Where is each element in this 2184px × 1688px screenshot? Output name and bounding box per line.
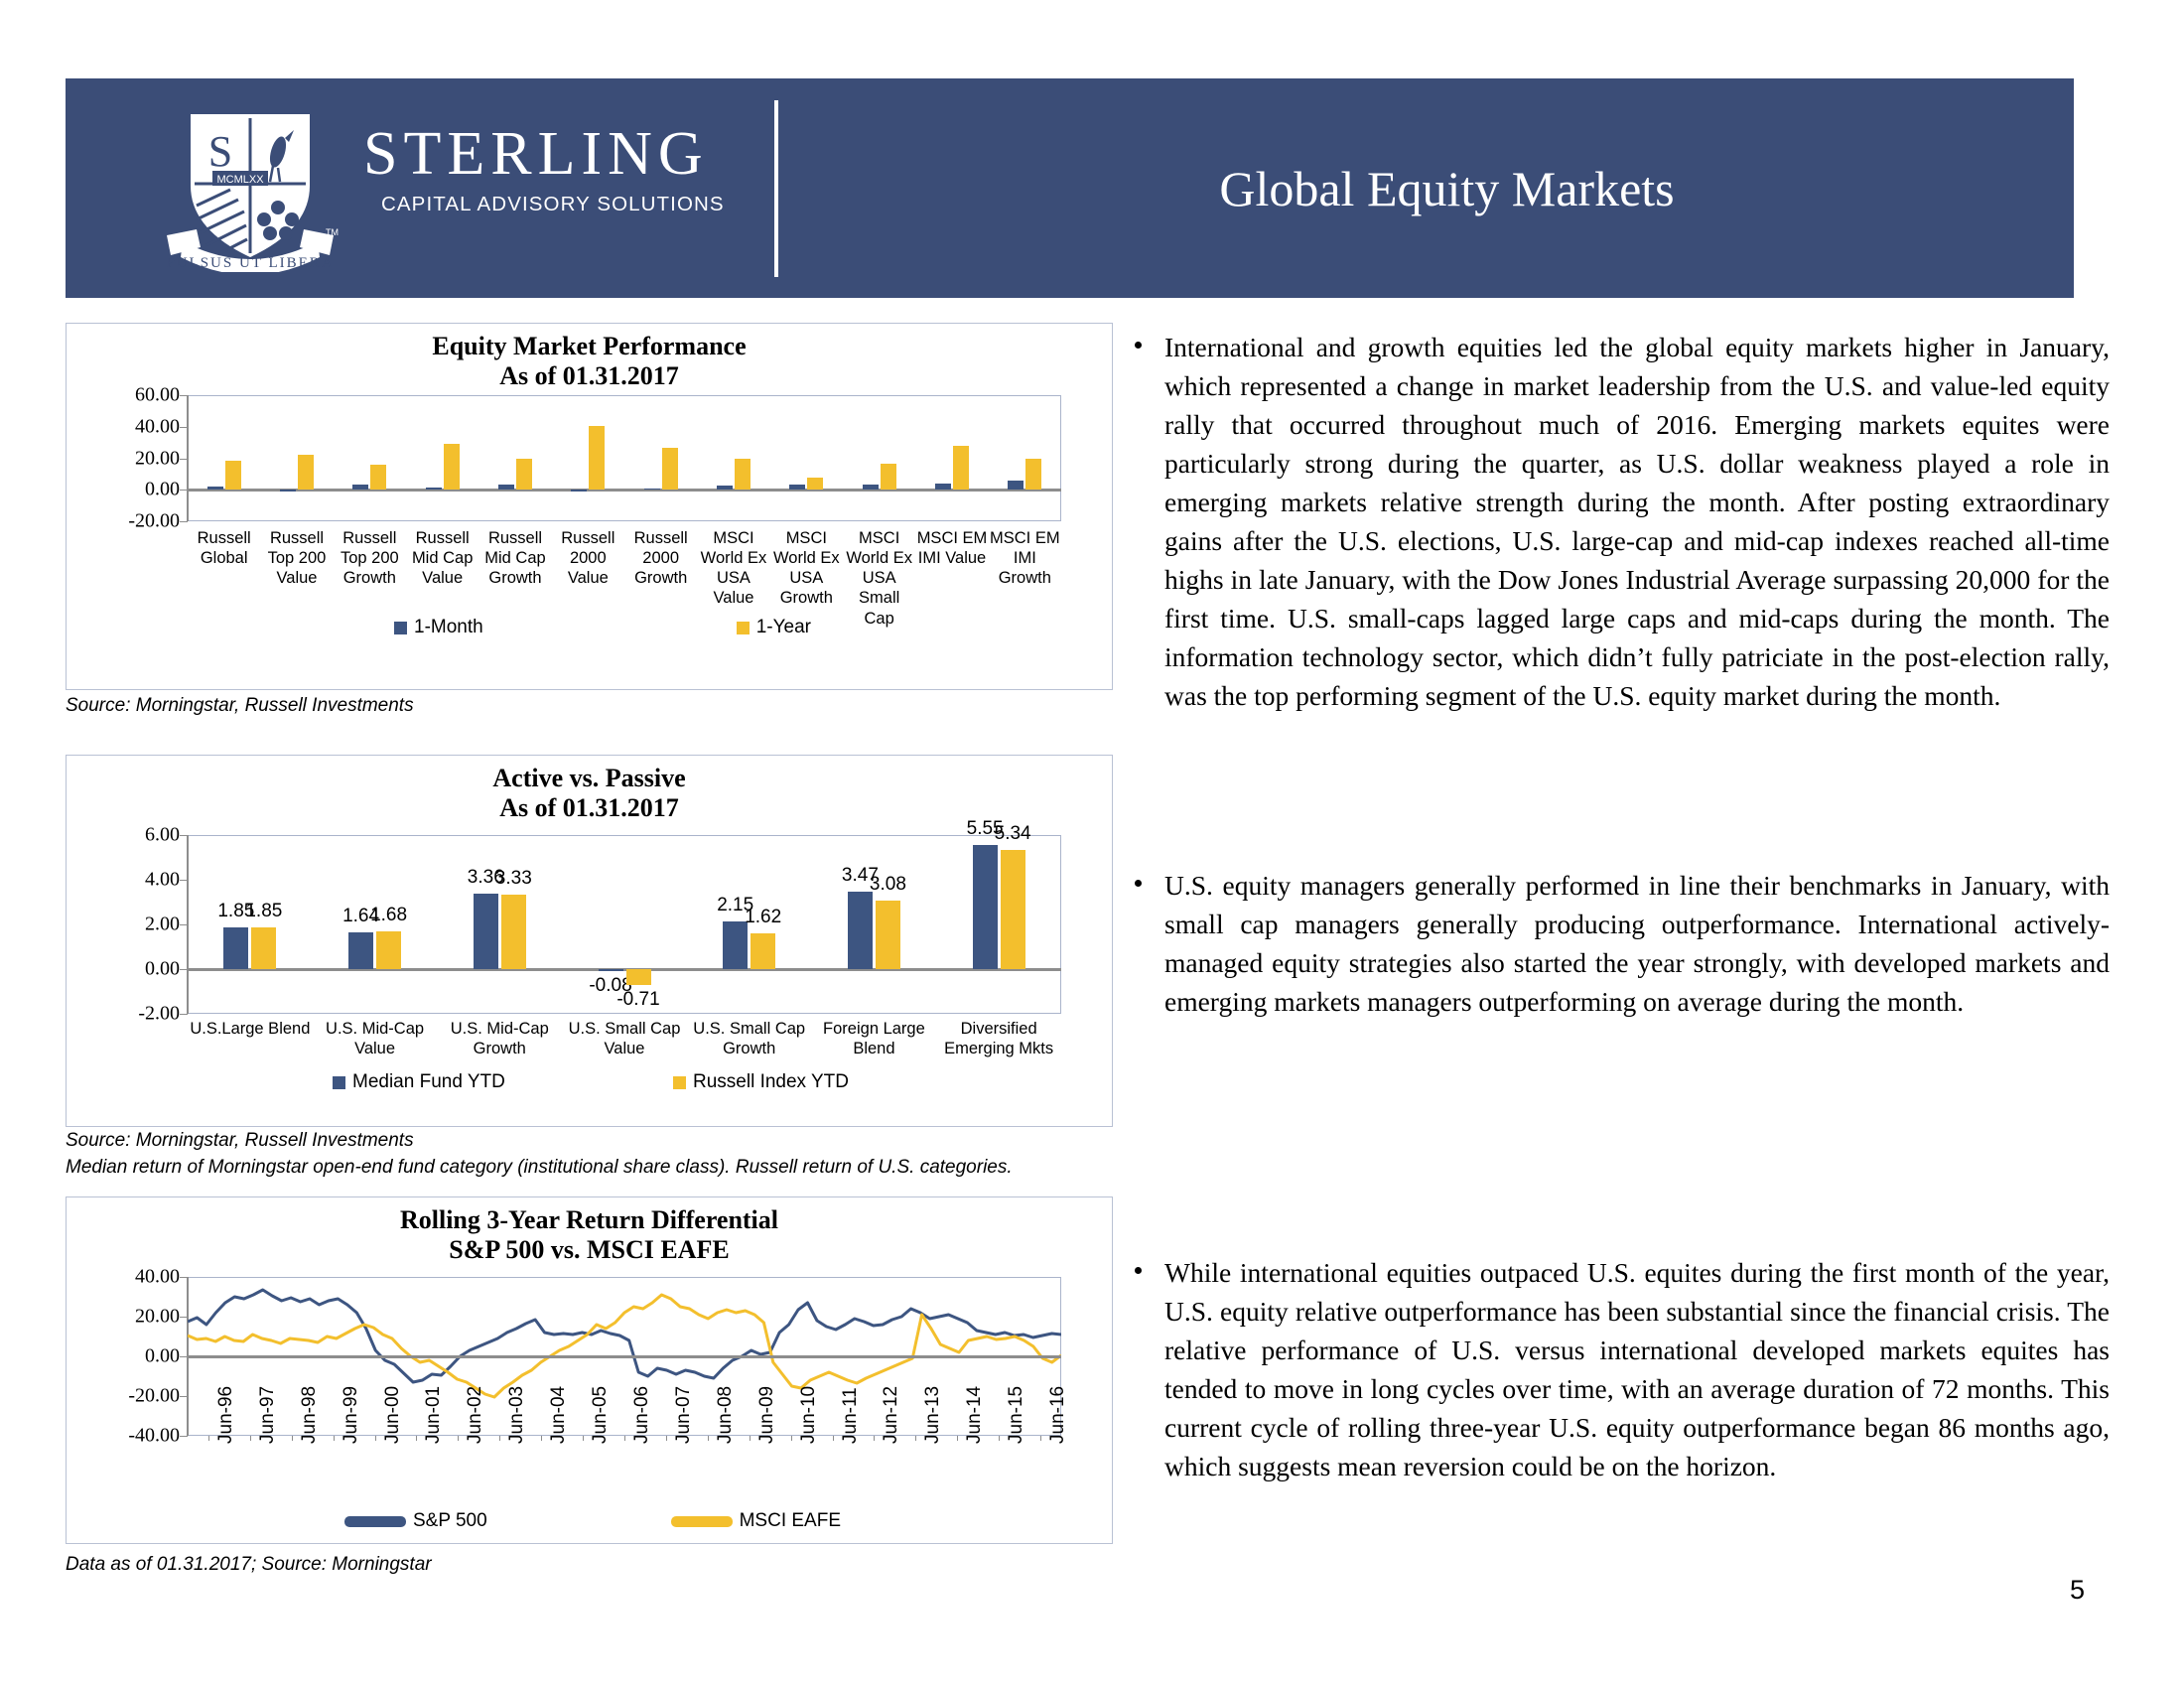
x-tick <box>458 1436 459 1441</box>
bar <box>223 927 248 969</box>
bar <box>498 485 514 490</box>
bar <box>474 894 498 969</box>
page-header: S MCMLXX PULSUS UT LIBERA TM <box>66 78 2074 298</box>
x-tick-label: Jun-07 <box>673 1386 695 1444</box>
x-tick <box>999 1436 1000 1441</box>
y-tick <box>180 1356 188 1357</box>
y-tick-label: 0.00 <box>145 479 180 501</box>
bar <box>789 485 805 490</box>
legend-line-swatch <box>671 1516 733 1527</box>
chart2-title: Active vs. Passive As of 01.31.2017 <box>67 764 1112 823</box>
y-tick-label: 0.00 <box>145 1345 180 1368</box>
bar <box>735 459 751 490</box>
category-label: RussellMid CapValue <box>406 528 478 588</box>
legend-item: MSCI EAFE <box>671 1510 841 1532</box>
commentary-bullet-3: While international equities outpaced U.… <box>1127 1253 2110 1485</box>
category-label: MSCI EMIMI Growth <box>989 528 1061 588</box>
legend-item: Median Fund YTD <box>333 1071 505 1093</box>
x-tick <box>666 1436 667 1441</box>
x-tick-label: Jun-97 <box>257 1386 279 1444</box>
legend-item: Russell Index YTD <box>673 1071 849 1093</box>
x-tick-label: Jun-99 <box>341 1386 362 1444</box>
x-tick-label: Jun-13 <box>922 1386 944 1444</box>
bar <box>599 969 623 971</box>
y-tick <box>180 490 188 491</box>
bar <box>973 845 998 969</box>
commentary-list-2: U.S. equity managers generally performed… <box>1127 866 2110 1021</box>
line-series <box>188 1295 1061 1397</box>
bar <box>225 461 241 491</box>
x-tick-label: Jun-14 <box>964 1386 986 1444</box>
chart1-subtitle: As of 01.31.2017 <box>67 361 1112 391</box>
y-tick-label: 40.00 <box>135 415 180 438</box>
category-label: RussellMid CapGrowth <box>478 528 551 588</box>
category-label: U.S. Mid-Cap Value <box>313 1019 438 1058</box>
chart1-source: Source: Morningstar, Russell Investments <box>66 695 414 717</box>
legend-label: MSCI EAFE <box>740 1510 841 1532</box>
x-tick <box>1040 1436 1041 1441</box>
legend-label: 1-Year <box>756 617 811 638</box>
bar <box>207 487 223 491</box>
y-tick <box>180 395 188 396</box>
commentary-bullet-1: International and growth equities led th… <box>1127 328 2110 715</box>
category-label: U.S. Mid-CapGrowth <box>437 1019 562 1058</box>
y-tick <box>180 1317 188 1318</box>
chart2-legend: Median Fund YTDRussell Index YTD <box>333 1071 849 1093</box>
x-tick <box>874 1436 875 1441</box>
y-tick <box>180 1277 188 1278</box>
x-tick-label: Jun-12 <box>881 1386 902 1444</box>
bar <box>1025 459 1041 491</box>
y-tick-label: -20.00 <box>128 510 180 533</box>
chart2-plot-area: 6.004.002.000.00-2.001.851.643.36-0.082.… <box>188 835 1061 1014</box>
y-tick-label: -2.00 <box>138 1003 180 1026</box>
brand-name: STERLING <box>363 123 741 185</box>
bar <box>516 459 532 490</box>
svg-text:MCMLXX: MCMLXX <box>216 174 264 186</box>
chart1-legend: 1-Month1-Year <box>394 617 811 638</box>
y-tick <box>180 924 188 925</box>
x-tick <box>292 1436 293 1441</box>
chart3-legend: S&P 500MSCI EAFE <box>344 1510 841 1532</box>
bar-value-label: 1.68 <box>370 905 407 926</box>
x-tick <box>833 1436 834 1441</box>
zero-line <box>188 968 1061 971</box>
bar <box>1008 481 1024 490</box>
category-label: U.S.Large Blend <box>188 1019 313 1039</box>
bar <box>280 490 296 492</box>
commentary-bullet-2: U.S. equity managers generally performed… <box>1127 866 2110 1021</box>
x-tick-label: Jun-11 <box>840 1387 862 1444</box>
line-series <box>188 1290 1061 1382</box>
sterling-crest-logo: S MCMLXX PULSUS UT LIBERA TM <box>161 108 340 272</box>
svg-text:PULSUS UT LIBERA: PULSUS UT LIBERA <box>166 255 334 271</box>
category-label: RussellGlobal <box>188 528 260 568</box>
category-label: MSCI EMIMI Value <box>915 528 988 568</box>
x-tick-label: Jun-96 <box>215 1386 237 1444</box>
active-vs-passive-card: Active vs. Passive As of 01.31.2017 6.00… <box>66 755 1113 1127</box>
commentary-list: International and growth equities led th… <box>1127 328 2110 715</box>
chart1-plot-area: 60.0040.0020.000.00-20.00 <box>188 395 1061 521</box>
category-label: MSCIWorld ExUSA Value <box>697 528 769 609</box>
chart1-title-line1: Equity Market Performance <box>67 332 1112 361</box>
x-tick-label: Jun-15 <box>1006 1386 1027 1444</box>
chart1-category-labels: RussellGlobalRussellTop 200ValueRussellT… <box>188 528 1061 613</box>
equity-market-performance-card: Equity Market Performance As of 01.31.20… <box>66 323 1113 690</box>
category-label: Russell2000 Value <box>552 528 624 588</box>
svg-text:S: S <box>208 127 232 176</box>
bar <box>953 446 969 490</box>
chart3-title-line1: Rolling 3-Year Return Differential <box>67 1205 1112 1235</box>
legend-label: Russell Index YTD <box>693 1071 849 1093</box>
chart2-source-line1: Source: Morningstar, Russell Investments <box>66 1130 414 1152</box>
x-tick-label: Jun-16 <box>1047 1386 1069 1444</box>
legend-label: Median Fund YTD <box>352 1071 505 1093</box>
chart3-title: Rolling 3-Year Return Differential S&P 5… <box>67 1205 1112 1265</box>
category-label: DiversifiedEmerging Mkts <box>936 1019 1061 1058</box>
bar-value-label: 1.62 <box>745 907 781 928</box>
chart3-subtitle: S&P 500 vs. MSCI EAFE <box>67 1235 1112 1265</box>
bar-value-label: 3.08 <box>870 874 906 896</box>
y-tick <box>180 459 188 460</box>
bar <box>751 933 775 969</box>
bar-value-label: 3.33 <box>495 868 532 890</box>
bar <box>589 426 605 490</box>
x-tick-label: Jun-01 <box>423 1386 445 1444</box>
bar <box>848 892 873 969</box>
legend-label: 1-Month <box>414 617 483 638</box>
legend-label: S&P 500 <box>413 1510 487 1532</box>
y-tick-label: 40.00 <box>135 1266 180 1289</box>
header-divider <box>774 100 778 277</box>
chart2-source-line2: Median return of Morningstar open-end fu… <box>66 1157 1013 1179</box>
x-tick-label: Jun-02 <box>465 1386 486 1444</box>
category-label: Russell2000Growth <box>624 528 697 588</box>
y-tick <box>180 969 188 970</box>
bar <box>717 486 733 490</box>
x-tick-label: Jun-10 <box>798 1386 820 1444</box>
x-tick-label: Jun-98 <box>299 1386 321 1444</box>
bar <box>723 921 748 969</box>
x-tick <box>334 1436 335 1441</box>
bar <box>251 927 276 969</box>
y-tick <box>180 1014 188 1015</box>
x-tick-label: Jun-06 <box>631 1386 653 1444</box>
x-tick-label: Jun-08 <box>715 1386 737 1444</box>
y-tick <box>180 427 188 428</box>
rolling-return-differential-card: Rolling 3-Year Return Differential S&P 5… <box>66 1196 1113 1544</box>
x-tick <box>208 1436 209 1441</box>
category-label: RussellTop 200Value <box>260 528 333 588</box>
y-tick-label: 60.00 <box>135 384 180 407</box>
y-tick-label: 20.00 <box>135 447 180 470</box>
legend-swatch <box>333 1076 345 1089</box>
y-tick <box>180 1436 188 1437</box>
bar <box>571 490 587 492</box>
bar <box>863 485 879 490</box>
x-tick-label: Jun-00 <box>382 1386 404 1444</box>
bar-value-label: -0.71 <box>616 989 659 1011</box>
x-tick-label: Jun-03 <box>506 1386 528 1444</box>
brand-wordmark: STERLING CAPITAL ADVISORY SOLUTIONS <box>363 123 741 216</box>
legend-swatch <box>394 622 407 634</box>
legend-swatch <box>737 622 750 634</box>
bar <box>1001 850 1025 969</box>
chart1-title: Equity Market Performance As of 01.31.20… <box>67 332 1112 391</box>
bar-value-label: 5.34 <box>995 823 1031 845</box>
bar <box>807 478 823 490</box>
chart2-subtitle: As of 01.31.2017 <box>67 793 1112 823</box>
x-tick <box>624 1436 625 1441</box>
x-tick <box>250 1436 251 1441</box>
y-tick-label: -20.00 <box>128 1385 180 1408</box>
y-tick-label: -40.00 <box>128 1425 180 1448</box>
x-tick <box>375 1436 376 1441</box>
bar <box>876 901 900 969</box>
category-label: MSCIWorld ExUSA SmallCap <box>843 528 915 629</box>
bar <box>662 448 678 490</box>
legend-item: 1-Year <box>737 617 811 638</box>
bar <box>935 484 951 491</box>
bar-value-label: 1.85 <box>245 901 282 922</box>
bar <box>444 444 460 490</box>
svg-text:TM: TM <box>326 227 339 237</box>
x-tick <box>583 1436 584 1441</box>
y-tick-label: 20.00 <box>135 1306 180 1329</box>
x-tick <box>499 1436 500 1441</box>
zero-line <box>188 489 1061 492</box>
zero-line <box>188 1355 1061 1358</box>
bar <box>352 485 368 490</box>
y-tick-label: 6.00 <box>145 824 180 847</box>
commentary-list-3: While international equities outpaced U.… <box>1127 1253 2110 1485</box>
x-tick-label: Jun-04 <box>548 1386 570 1444</box>
y-tick <box>180 880 188 881</box>
page-title: Global Equity Markets <box>820 78 2074 298</box>
x-tick <box>957 1436 958 1441</box>
chart2-category-labels: U.S.Large BlendU.S. Mid-Cap ValueU.S. Mi… <box>188 1019 1061 1073</box>
x-tick <box>750 1436 751 1441</box>
y-tick <box>180 521 188 522</box>
x-tick <box>915 1436 916 1441</box>
page-number: 5 <box>2070 1575 2085 1606</box>
y-tick-label: 2.00 <box>145 914 180 936</box>
category-label: U.S. Small CapValue <box>562 1019 687 1058</box>
category-label: Foreign LargeBlend <box>812 1019 937 1058</box>
legend-line-swatch <box>344 1516 406 1527</box>
y-tick <box>180 1396 188 1397</box>
bar <box>298 455 314 491</box>
chart3-x-axis-labels: Jun-96Jun-97Jun-98Jun-99Jun-00Jun-01Jun-… <box>188 1440 1061 1509</box>
category-label: U.S. Small CapGrowth <box>687 1019 812 1058</box>
brand-tagline: CAPITAL ADVISORY SOLUTIONS <box>381 193 741 216</box>
category-label: MSCIWorld ExUSAGrowth <box>770 528 843 609</box>
legend-item: 1-Month <box>394 617 483 638</box>
bar <box>644 489 660 491</box>
bar <box>370 465 386 490</box>
bar <box>376 931 401 969</box>
x-tick-label: Jun-09 <box>756 1386 778 1444</box>
y-tick <box>180 835 188 836</box>
legend-swatch <box>673 1076 686 1089</box>
bar <box>626 969 651 985</box>
x-tick <box>541 1436 542 1441</box>
category-label: RussellTop 200Growth <box>334 528 406 588</box>
x-tick <box>708 1436 709 1441</box>
bar <box>426 488 442 490</box>
x-tick <box>791 1436 792 1441</box>
x-tick-label: Jun-05 <box>590 1386 612 1444</box>
chart3-footnote: Data as of 01.31.2017; Source: Morningst… <box>66 1554 432 1576</box>
chart2-title-line1: Active vs. Passive <box>67 764 1112 793</box>
legend-item: S&P 500 <box>344 1510 487 1532</box>
bar <box>881 464 896 491</box>
bar <box>348 932 373 969</box>
x-tick <box>416 1436 417 1441</box>
y-tick-label: 0.00 <box>145 958 180 981</box>
y-tick-label: 4.00 <box>145 869 180 892</box>
bar <box>501 895 526 969</box>
